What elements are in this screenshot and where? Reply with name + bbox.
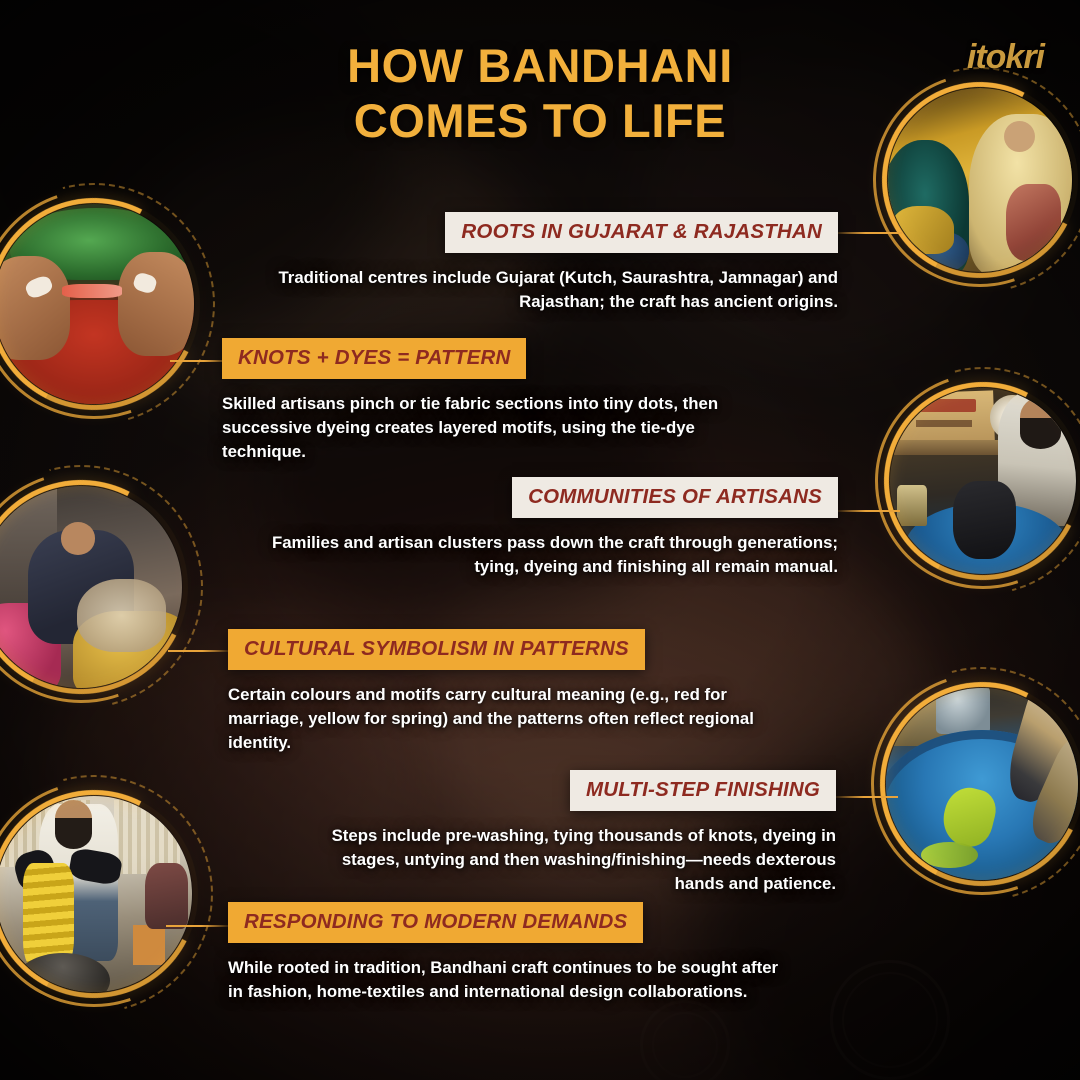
section-responding-to-modern-demands: RESPONDING TO MODERN DEMANDS While roote…	[228, 902, 786, 1004]
section-cultural-symbolism-in-patterns: CULTURAL SYMBOLISM IN PATTERNS Certain c…	[228, 629, 776, 755]
connector-line-6	[166, 925, 230, 927]
section-heading-bar[interactable]: MULTI-STEP FINISHING	[570, 770, 836, 811]
section-body-text: Traditional centres include Gujarat (Kut…	[250, 266, 838, 314]
section-heading-bar[interactable]: CULTURAL SYMBOLISM IN PATTERNS	[228, 629, 645, 670]
section-roots-in-gujarat-rajasthan: ROOTS IN GUJARAT & RAJASTHAN Traditional…	[250, 212, 838, 314]
section-body-text: While rooted in tradition, Bandhani craf…	[228, 956, 786, 1004]
section-heading-bar[interactable]: KNOTS + DYES = PATTERN	[222, 338, 526, 379]
title-line-2: COMES TO LIFE	[0, 93, 1080, 148]
photo-hands-tying-red-fabric	[0, 198, 200, 410]
photo-artisan-lifting-yellow-dyed-skeins	[0, 790, 198, 998]
section-heading-bar[interactable]: ROOTS IN GUJARAT & RAJASTHAN	[445, 212, 838, 253]
connector-line-5	[836, 796, 898, 798]
title-line-1: HOW BANDHANI	[0, 38, 1080, 93]
section-body-text: Skilled artisans pinch or tie fabric sec…	[222, 392, 756, 464]
photo-woman-seated-tying-fabric	[0, 480, 188, 694]
section-heading-bar[interactable]: COMMUNITIES OF ARTISANS	[512, 477, 838, 518]
section-heading-bar[interactable]: RESPONDING TO MODERN DEMANDS	[228, 902, 643, 943]
photo-indigo-dye-vat-with-fabric	[880, 682, 1080, 886]
page-title: HOW BANDHANI COMES TO LIFE	[0, 38, 1080, 149]
connector-line-4	[168, 650, 230, 652]
connector-line-1	[836, 232, 902, 234]
section-communities-of-artisans: COMMUNITIES OF ARTISANS Families and art…	[246, 477, 838, 579]
connector-line-3	[838, 510, 900, 512]
section-body-text: Steps include pre-washing, tying thousan…	[320, 824, 836, 896]
section-body-text: Families and artisan clusters pass down …	[246, 531, 838, 579]
section-multi-step-finishing: MULTI-STEP FINISHING Steps include pre-w…	[320, 770, 836, 896]
brand-logo[interactable]: itokri	[967, 38, 1044, 77]
section-knots-dyes-pattern: KNOTS + DYES = PATTERN Skilled artisans …	[222, 338, 756, 464]
section-body-text: Certain colours and motifs carry cultura…	[228, 683, 776, 755]
photo-artisan-dyeing-in-blue-tub	[884, 382, 1080, 580]
